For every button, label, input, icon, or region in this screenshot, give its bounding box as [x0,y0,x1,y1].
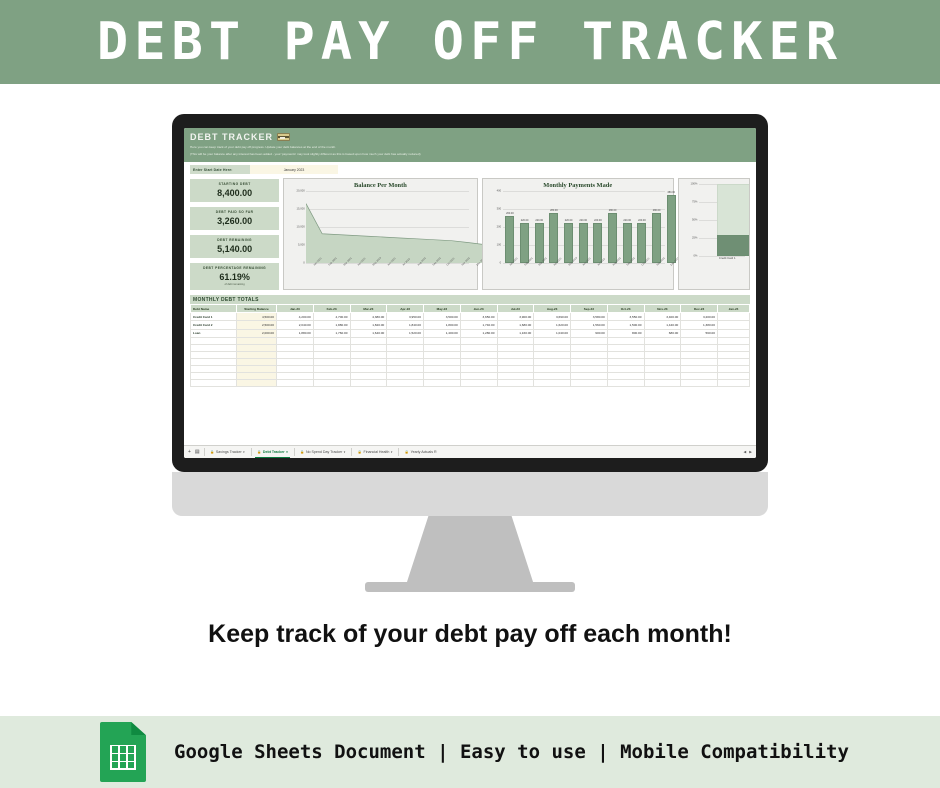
start-date-row: Enter Start Date Here: January 2023 [190,165,338,174]
table-cell[interactable]: 3,550.00 [607,313,644,321]
all-sheets-icon[interactable]: ▤ [195,450,200,455]
bar [717,235,750,256]
table-cell[interactable] [607,365,644,372]
bar [505,216,514,263]
table-cell[interactable]: 4,200.00 [277,313,314,321]
table-cell[interactable] [644,365,681,372]
table-cell[interactable] [534,379,571,386]
start-date-label: Enter Start Date Here: [190,165,250,174]
table-cell[interactable] [497,358,534,365]
kpi-debt-paid-so-far: DEBT PAID SO FAR 3,260.00 [190,206,279,230]
bar [652,213,661,263]
table-cell[interactable] [424,379,461,386]
bar [535,223,544,263]
bar-data-label: 280.00 [550,209,558,212]
table-cell[interactable] [497,351,534,358]
monitor-base [365,582,575,592]
add-sheet-icon[interactable]: + [188,450,191,455]
table-row: Credit Card 14,500.004,200.004,700.004,3… [191,313,750,321]
table-cell[interactable]: 2,000.00 [237,329,277,337]
table-cell[interactable] [237,372,277,379]
table-cell[interactable] [424,358,461,365]
table-cell[interactable] [571,337,608,344]
table-cell[interactable] [460,344,497,351]
table-cell[interactable] [571,379,608,386]
table-cell[interactable] [277,351,314,358]
table-cell[interactable] [681,344,718,351]
bar [579,223,588,263]
table-cell[interactable] [497,337,534,344]
chart-balance-per-month: Balance Per Month 05,00010,00015,00020,0… [283,178,477,290]
table-cell[interactable]: 1,820.00 [350,321,387,329]
table-cell[interactable] [237,358,277,365]
page-title: DEBT PAY OFF TRACKER [97,12,843,72]
sheet-description-line-1: Here you can keep track of your debt pay… [190,145,750,150]
sheet-tab-savings-tracker[interactable]: 🔒Savings Tracker▾ [208,450,247,454]
table-cell[interactable] [191,351,237,358]
table-cell[interactable] [644,358,681,365]
table-cell[interactable] [313,358,350,365]
table-cell[interactable] [313,337,350,344]
table-cell[interactable] [681,358,718,365]
sheet-header: DEBT TRACKER Here you can keep track of … [184,128,756,162]
table-cell[interactable]: 1,520.00 [387,329,424,337]
table-cell[interactable] [534,337,571,344]
kpi-starting-debt: STARTING DEBT 8,400.00 [190,178,279,202]
table-cell[interactable] [460,351,497,358]
table-cell[interactable] [237,365,277,372]
table-cell[interactable]: 3,580.00 [571,313,608,321]
table-cell[interactable] [387,379,424,386]
y-axis-tick-label: 100% [691,183,699,186]
bar-data-label: 220.00 [535,219,543,222]
footer-bar: Google Sheets Document | Easy to use | M… [0,716,940,788]
chevron-down-icon[interactable]: ▾ [243,450,245,454]
table-cell[interactable] [277,379,314,386]
table-cell[interactable] [387,358,424,365]
y-axis-tick-label: 200 [497,226,503,229]
prev-tab-icon[interactable]: ◀ [743,450,746,454]
start-date-input[interactable]: January 2023 [250,165,338,174]
table-column-header: Jun-23 [460,305,497,313]
table-row-empty [191,337,750,344]
table-cell[interactable]: 3,400.00 [644,313,681,321]
table-cell[interactable] [607,344,644,351]
google-sheets-icon [100,722,146,782]
table-cell[interactable] [277,358,314,365]
bar-data-label: 380.00 [667,191,675,194]
dashboard-row: STARTING DEBT 8,400.00 DEBT PAID SO FAR … [184,174,756,290]
table-cell[interactable]: 3,650.00 [460,313,497,321]
table-column-header: Jan-23 [277,305,314,313]
bar-data-label: 220.00 [623,219,631,222]
sheet-description-line-2: (This will be your balance after any int… [190,152,750,157]
table-cell[interactable] [350,372,387,379]
table-cell[interactable]: 2,500.00 [237,321,277,329]
table-cell[interactable] [497,365,534,372]
kpi-label: DEBT PERCENTAGE REMAINING [192,266,277,270]
next-tab-icon[interactable]: ▶ [749,450,752,454]
table-cell[interactable] [497,344,534,351]
table-row: Credit Card 22,500.002,040.001,880.001,8… [191,321,750,329]
table-cell[interactable] [350,351,387,358]
table-cell[interactable] [644,351,681,358]
table-cell[interactable] [681,337,718,344]
bar-data-label: 220.00 [521,219,529,222]
product-listing-page: DEBT PAY OFF TRACKER DEBT TRACKER Here y… [0,0,940,788]
credit-card-icon [277,133,290,141]
table-cell[interactable] [607,351,644,358]
table-cell[interactable]: 1,500.00 [607,321,644,329]
sheet-tab-bar: + ▤ 🔒Savings Tracker▾🔒Debt Tracker▾🔒No S… [184,445,756,458]
table-cell[interactable] [718,372,750,379]
table-header-row: Debt NameStarting BalanceJan-23Feb-23Mar… [191,305,750,313]
kpi-label: DEBT REMAINING [192,238,277,242]
table-cell[interactable]: 1,560.00 [571,321,608,329]
table-cell[interactable] [191,358,237,365]
y-axis-tick-label: 300 [497,208,503,211]
divider [251,448,252,456]
lock-icon: 🔒 [405,450,409,454]
sheet-tab-yearly-actuals-r[interactable]: 🔒Yearly Actuals R [403,450,439,454]
table-cell[interactable] [681,372,718,379]
divider [351,448,352,456]
chart-debt-percentage: 0%25%50%75%100%Credit Card 1 [678,178,750,290]
table-cell[interactable]: 1,680.00 [497,321,534,329]
kpi-sublabel: of debt remaining [192,283,277,286]
kpi-value: 3,260.00 [192,216,277,226]
table-cell[interactable] [718,337,750,344]
table-cell[interactable] [313,379,350,386]
table-cell[interactable] [313,351,350,358]
table-cell[interactable] [387,351,424,358]
table-cell[interactable]: 3,200.00 [681,313,718,321]
chart-monthly-payments-made: Monthly Payments Made 0100200300400260.0… [482,178,674,290]
bar-data-label: 280.00 [609,209,617,212]
sheet-tab-label: Financial Health [364,450,390,454]
table-title: MONTHLY DEBT TOTALS [190,294,750,304]
table-column-header: Dec-23 [681,305,718,313]
lock-icon: 🔒 [358,450,362,454]
monitor-stand [405,516,535,588]
bar [608,213,617,263]
y-axis-tick-label: 0 [500,262,503,265]
chevron-down-icon[interactable]: ▾ [286,450,288,454]
table-cell[interactable] [681,379,718,386]
kpi-label: STARTING DEBT [192,182,277,186]
table-cell[interactable]: 1,740.00 [460,321,497,329]
table-cell[interactable] [191,344,237,351]
table-cell[interactable] [607,372,644,379]
tab-nav-arrows: ◀ ▶ [743,450,752,454]
table-cell[interactable] [460,365,497,372]
sheet-tab-debt-tracker[interactable]: 🔒Debt Tracker▾ [255,446,290,458]
table-cell[interactable] [350,358,387,365]
gridline [503,209,665,210]
chevron-down-icon[interactable]: ▾ [391,450,393,454]
kpi-value: 5,140.00 [192,244,277,254]
table-column-header: Debt Name [191,305,237,313]
kpi-label: DEBT PAID SO FAR [192,210,277,214]
table-cell[interactable] [313,372,350,379]
table-cell[interactable]: 1,160.00 [497,329,534,337]
table-cell[interactable]: 4,380.00 [350,313,387,321]
area-series [306,191,484,263]
bar-data-label: 220.00 [579,219,587,222]
sheet-tab-label: Yearly Actuals R [411,450,437,454]
y-axis-tick-label: 25% [692,237,699,240]
table-row-empty [191,365,750,372]
table-cell[interactable]: 900.00 [571,329,608,337]
table-cell[interactable] [460,372,497,379]
table-cell[interactable]: 3,950.00 [387,313,424,321]
lock-icon: 🔒 [300,450,304,454]
table-cell[interactable]: 1,800.00 [424,321,461,329]
table-cell[interactable] [191,379,237,386]
bar [667,195,676,263]
table-column-header: Nov-23 [644,305,681,313]
table-cell[interactable] [387,365,424,372]
table-cell[interactable] [460,358,497,365]
table-cell[interactable] [350,337,387,344]
header-banner: DEBT PAY OFF TRACKER [0,0,940,84]
table-cell[interactable] [387,344,424,351]
table-cell[interactable]: 4,500.00 [237,313,277,321]
footer-text: Google Sheets Document | Easy to use | M… [174,741,849,763]
table-cell[interactable]: 1,880.00 [277,329,314,337]
table-cell[interactable] [681,351,718,358]
gridline [503,191,665,192]
spreadsheet: DEBT TRACKER Here you can keep track of … [184,128,756,458]
debt-name-cell[interactable]: Loan [191,329,237,337]
table-column-header: Mar-23 [350,305,387,313]
y-axis-tick-label: 75% [692,201,699,204]
table-cell[interactable]: 560.00 [681,329,718,337]
table-cell[interactable] [644,344,681,351]
sheet-tab-financial-health[interactable]: 🔒Financial Health▾ [356,450,395,454]
bar-data-label: 220.00 [638,219,646,222]
table-cell[interactable]: 4,700.00 [313,313,350,321]
table-cell[interactable] [534,372,571,379]
table-cell[interactable]: 1,620.00 [534,321,571,329]
table-cell[interactable] [534,344,571,351]
table-cell[interactable] [681,365,718,372]
y-axis-tick-label: 20,000 [297,190,307,193]
table-cell[interactable] [424,344,461,351]
table-cell[interactable]: 1,880.00 [313,321,350,329]
table-cell[interactable] [313,344,350,351]
divider [398,448,399,456]
bar-data-label: 260.00 [506,212,514,215]
bar [549,213,558,263]
chart-title: Balance Per Month [288,182,472,189]
table-cell[interactable] [277,344,314,351]
table-cell[interactable] [571,358,608,365]
table-cell[interactable] [237,337,277,344]
table-cell[interactable] [644,372,681,379]
monthly-debt-totals-table: Debt NameStarting BalanceJan-23Feb-23Mar… [190,304,750,387]
bar [520,223,529,263]
y-axis-tick-label: 100 [497,244,503,247]
table-cell[interactable]: 1,840.00 [387,321,424,329]
table-cell[interactable] [424,337,461,344]
monitor-bezel: DEBT TRACKER Here you can keep track of … [172,114,768,472]
chevron-down-icon[interactable]: ▾ [344,450,346,454]
table-cell[interactable] [424,365,461,372]
table-cell[interactable] [313,365,350,372]
y-axis-tick-label: 0% [694,255,699,258]
table-cell[interactable] [191,365,237,372]
table-column-header: Jan-24 [718,305,750,313]
table-cell[interactable] [644,337,681,344]
table-column-header: Sep-23 [571,305,608,313]
table-row-empty [191,358,750,365]
table-cell[interactable] [350,379,387,386]
table-cell[interactable] [607,337,644,344]
table-cell[interactable] [277,337,314,344]
debt-name-cell[interactable]: Credit Card 1 [191,313,237,321]
table-cell[interactable] [387,372,424,379]
table-row-empty [191,344,750,351]
table-cell[interactable] [237,351,277,358]
y-axis-tick-label: 10,000 [297,226,307,229]
table-cell[interactable] [718,379,750,386]
table-cell[interactable] [460,379,497,386]
lock-icon: 🔒 [210,450,214,454]
table-cell[interactable] [718,313,750,321]
sheet-tab-label: No Spend Day Tracker [306,450,342,454]
y-axis-tick-label: 50% [692,219,699,222]
debt-name-cell[interactable]: Credit Card 2 [191,321,237,329]
bar [593,223,602,263]
kpi-debt-percentage-remaining: DEBT PERCENTAGE REMAINING 61.19% of debt… [190,262,279,290]
table-cell[interactable]: 1,640.00 [350,329,387,337]
bar-data-label: 220.00 [594,219,602,222]
table-column-header: Oct-23 [607,305,644,313]
table-cell[interactable]: 3,900.00 [497,313,534,321]
table-cell[interactable] [497,379,534,386]
table-cell[interactable] [718,365,750,372]
table-row-empty [191,372,750,379]
bar-data-label: 280.00 [653,209,661,212]
table-cell[interactable] [237,379,277,386]
table-cell[interactable] [644,379,681,386]
table-cell[interactable] [424,372,461,379]
table-cell[interactable] [277,372,314,379]
kpi-debt-remaining: DEBT REMAINING 5,140.00 [190,234,279,258]
table-cell[interactable] [191,337,237,344]
monitor-chin [172,472,768,516]
table-cell[interactable] [607,358,644,365]
divider [204,448,205,456]
table-column-header: Apr-23 [387,305,424,313]
table-cell[interactable] [571,365,608,372]
table-column-header: Feb-23 [313,305,350,313]
table-cell[interactable] [571,372,608,379]
table-cell[interactable]: 800.00 [607,329,644,337]
table-cell[interactable]: 3,690.00 [534,313,571,321]
table-cell[interactable] [350,365,387,372]
table-cell[interactable] [571,351,608,358]
divider [294,448,295,456]
sheet-tab-label: Savings Tracker [216,450,242,454]
monitor-screen: DEBT TRACKER Here you can keep track of … [184,128,756,458]
table-column-header: Aug-23 [534,305,571,313]
table-cell[interactable] [424,351,461,358]
table-cell[interactable]: 680.00 [644,329,681,337]
table-cell[interactable]: 1,440.00 [644,321,681,329]
table-cell[interactable]: 1,380.00 [681,321,718,329]
table-cell[interactable] [571,344,608,351]
table-cell[interactable] [607,379,644,386]
table-cell[interactable] [718,351,750,358]
bar [623,223,632,263]
table-cell[interactable] [534,365,571,372]
sheet-title: DEBT TRACKER [190,132,273,142]
table-cell[interactable] [534,358,571,365]
table-cell[interactable]: 1,280.00 [460,329,497,337]
sheet-tab-label: Debt Tracker [263,450,285,454]
table-cell[interactable] [277,365,314,372]
chart-title: Monthly Payments Made [487,182,669,189]
table-cell[interactable]: 1,040.00 [534,329,571,337]
bar [637,223,646,263]
table-cell[interactable]: 3,500.00 [424,313,461,321]
table-cell[interactable] [350,344,387,351]
chart-plot-area: 0%25%50%75%100%Credit Card 1 [699,184,745,256]
x-axis-tick-label: Credit Card 1 [719,256,736,260]
table-column-header: May-23 [424,305,461,313]
table-cell[interactable] [460,337,497,344]
monitor-mockup: DEBT TRACKER Here you can keep track of … [0,84,940,614]
table-cell[interactable] [237,344,277,351]
table-cell[interactable]: 1,400.00 [424,329,461,337]
chart-plot-area: 0100200300400260.00220.00220.00280.00220… [503,191,665,263]
table-cell[interactable] [387,337,424,344]
kpi-column: STARTING DEBT 8,400.00 DEBT PAID SO FAR … [190,178,279,290]
kpi-value: 61.19% [192,272,277,282]
table-cell[interactable]: 1,760.00 [313,329,350,337]
table-column-header: Jul-23 [497,305,534,313]
table-cell[interactable] [718,358,750,365]
table-cell[interactable] [497,372,534,379]
bar [564,223,573,263]
table-cell[interactable] [191,372,237,379]
y-axis-tick-label: 5,000 [298,244,306,247]
kpi-value: 8,400.00 [192,188,277,198]
table-cell[interactable] [534,351,571,358]
table-row-empty [191,351,750,358]
table-column-header: Starting Balance [237,305,277,313]
lock-icon: 🔒 [257,450,261,454]
sheet-tab-no-spend-day-tracker[interactable]: 🔒No Spend Day Tracker▾ [298,450,347,454]
y-axis-tick-label: 15,000 [297,208,307,211]
table-cell[interactable] [718,344,750,351]
table-cell[interactable] [718,321,750,329]
tagline: Keep track of your debt pay off each mon… [0,620,940,649]
monthly-debt-totals-section: MONTHLY DEBT TOTALS Debt NameStarting Ba… [184,290,756,387]
table-row: Loan2,000.001,880.001,760.001,640.001,52… [191,329,750,337]
table-cell[interactable] [718,329,750,337]
chart-plot-area: 05,00010,00015,00020,000Jan 2023Feb 2023… [306,191,468,263]
table-row-empty [191,379,750,386]
table-cell[interactable]: 2,040.00 [277,321,314,329]
bar-data-label: 220.00 [565,219,573,222]
y-axis-tick-label: 400 [497,190,503,193]
